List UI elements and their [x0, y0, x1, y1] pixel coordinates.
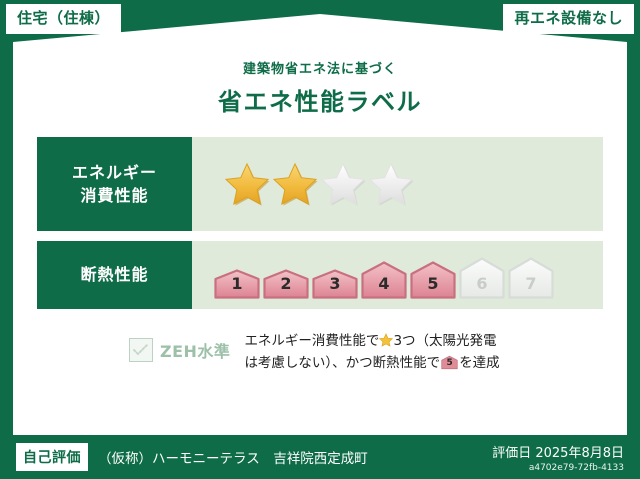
house-icon [312, 269, 358, 299]
insulation-level-3: 3 [312, 263, 358, 299]
zeh-desc-part3: は考慮しない）、かつ断熱性能で [244, 355, 440, 371]
star-icon-filled [272, 162, 318, 206]
star-icon [379, 333, 393, 347]
badge-renewable-energy: 再エネ設備なし [503, 4, 634, 34]
performance-rows: エネルギー 消費性能 断熱性能 1234567 [37, 137, 603, 319]
evaluation-date: 評価日 2025年8月8日 [492, 446, 624, 461]
page-title: 省エネ性能ラベル [0, 82, 640, 117]
row-insulation-performance: 断熱性能 1234567 [37, 241, 603, 309]
house-icon [459, 257, 505, 299]
star-icon-empty [368, 162, 414, 206]
house-icon [361, 261, 407, 299]
badge-self-evaluation: 自己評価 [16, 443, 88, 471]
insulation-level-1: 1 [214, 263, 260, 299]
row-energy-label-line1: エネルギー [72, 161, 157, 184]
insulation-level-7: 7 [508, 251, 554, 299]
star-icon-filled [224, 162, 270, 206]
footer-bar: 自己評価 （仮称）ハーモニーテラス 吉祥院西定成町 評価日 2025年8月8日 … [0, 435, 640, 479]
zeh-desc-part1: エネルギー消費性能で [244, 333, 379, 349]
energy-performance-label: 住宅（住棟） 再エネ設備なし 建築物省エネ法に基づく 省エネ性能ラベル エネルギ… [0, 0, 640, 479]
check-icon [133, 343, 149, 357]
star-rating [224, 162, 414, 206]
building-name: （仮称）ハーモニーテラス 吉祥院西定成町 [98, 447, 368, 467]
house-icon [410, 261, 456, 299]
evaluation-id: a4702e79-72fb-4133 [492, 463, 624, 473]
zeh-desc-part2: 3つ（太陽光発電 [393, 333, 496, 349]
row-energy-performance: エネルギー 消費性能 [37, 137, 603, 231]
row-energy-value [192, 137, 603, 231]
insulation-level-2: 2 [263, 263, 309, 299]
row-energy-label-line2: 消費性能 [80, 184, 148, 207]
insulation-level-4: 4 [361, 255, 407, 299]
house-icon [214, 269, 260, 299]
zeh-description: エネルギー消費性能で3つ（太陽光発電 は考慮しない）、かつ断熱性能で5を達成 [230, 330, 603, 375]
insulation-level-badge: 5 [441, 355, 458, 370]
house-icon [263, 269, 309, 299]
row-energy-label: エネルギー 消費性能 [37, 137, 192, 231]
title-block: 建築物省エネ法に基づく 省エネ性能ラベル [0, 58, 640, 117]
title-subtitle: 建築物省エネ法に基づく [0, 58, 640, 77]
insulation-level-6: 6 [459, 251, 505, 299]
row-insulation-label: 断熱性能 [37, 241, 192, 309]
insulation-level-badge-num: 5 [441, 355, 458, 370]
zeh-row: ZEH水準 エネルギー消費性能で3つ（太陽光発電 は考慮しない）、かつ断熱性能で… [37, 330, 603, 375]
badge-building-type: 住宅（住棟） [6, 4, 121, 34]
zeh-badge: ZEH水準 [37, 330, 230, 362]
zeh-label: ZEH水準 [160, 338, 230, 362]
footer-right: 評価日 2025年8月8日 a4702e79-72fb-4133 [492, 442, 624, 473]
zeh-checkbox[interactable] [129, 338, 153, 362]
row-insulation-value: 1234567 [192, 241, 603, 309]
zeh-desc-part4: を達成 [459, 355, 500, 371]
star-icon-empty [320, 162, 366, 206]
insulation-scale: 1234567 [214, 251, 554, 299]
insulation-level-5: 5 [410, 255, 456, 299]
house-icon [508, 257, 554, 299]
